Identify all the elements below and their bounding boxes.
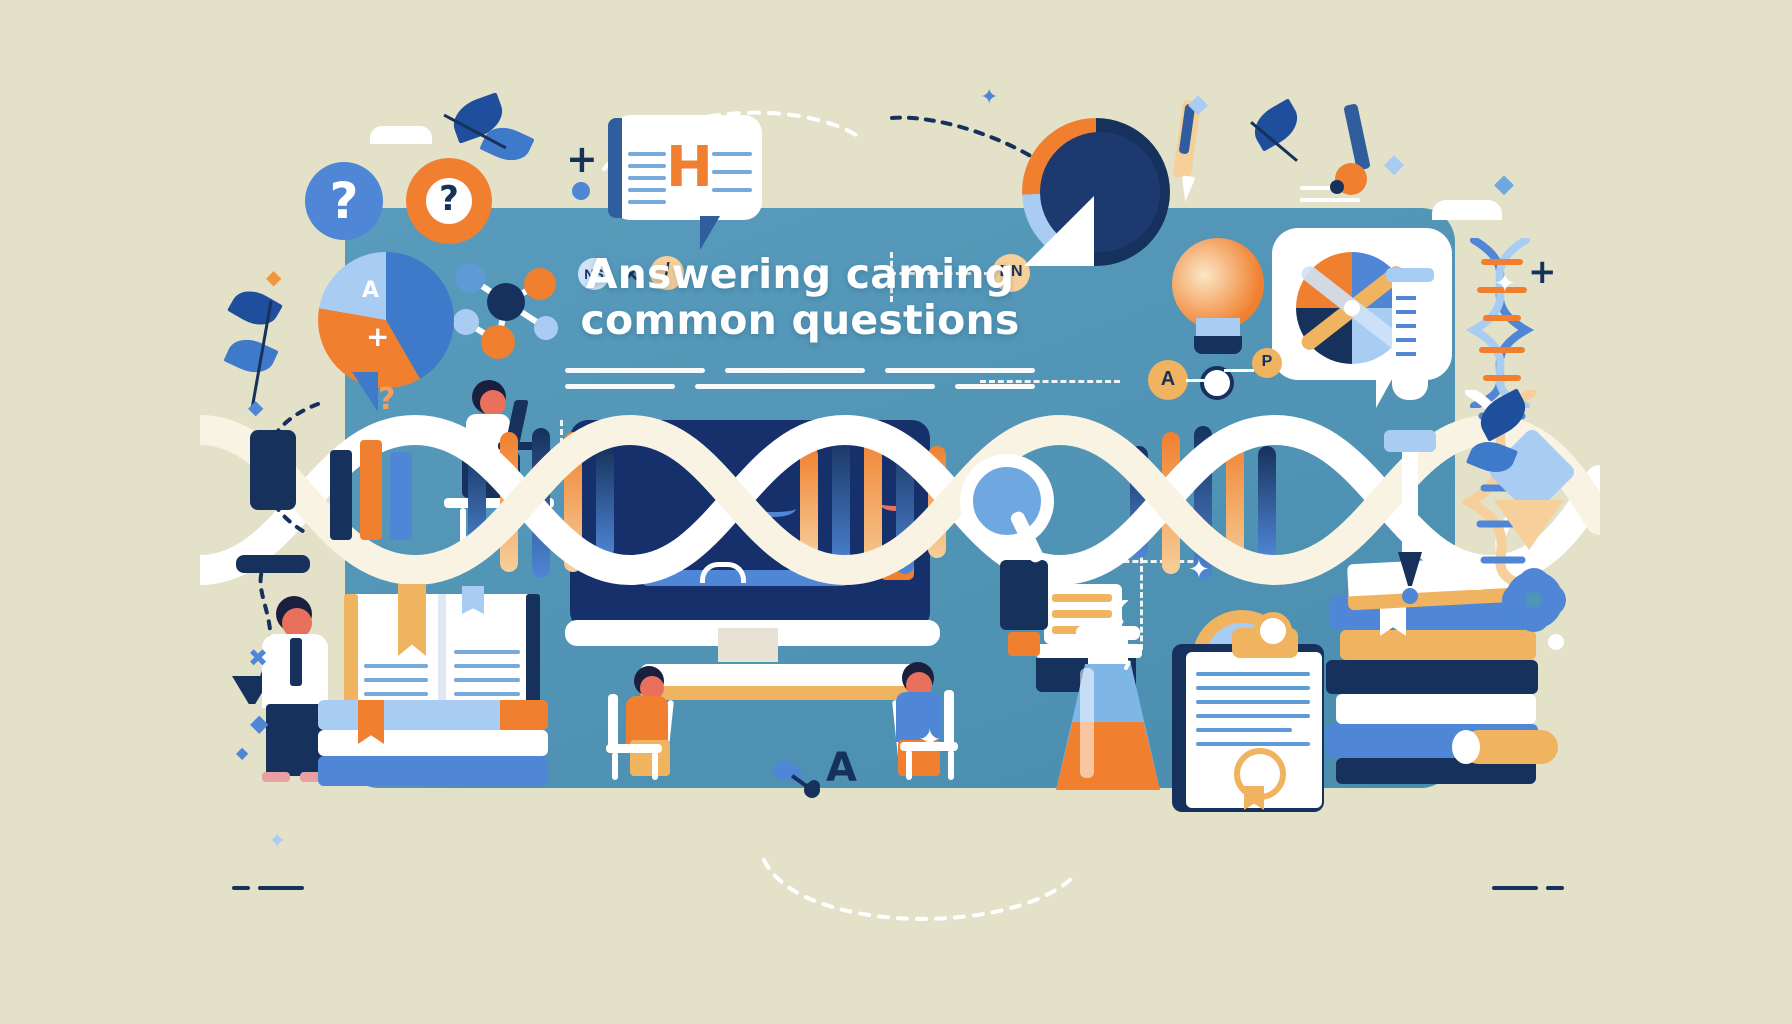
bottom-dotted-curve xyxy=(760,856,1080,946)
clipboard-line xyxy=(1196,686,1310,690)
speech-bubble-tail xyxy=(700,216,720,250)
dot-white-right xyxy=(1548,634,1564,650)
test-tube-mark-1 xyxy=(1396,296,1416,300)
cloud-right xyxy=(1432,200,1502,220)
test-tube-mark-3 xyxy=(1396,324,1416,328)
pie-chart-right-center xyxy=(1344,300,1360,316)
badge-connector-line-2 xyxy=(1224,369,1254,372)
diamond-icon-4: ◆ xyxy=(266,268,281,288)
book-text-line xyxy=(364,664,428,668)
bar-chart-column-1 xyxy=(330,450,352,540)
title-rule-1 xyxy=(565,368,705,373)
pipette-stem xyxy=(1402,452,1418,556)
diamond-icon-2: ◆ xyxy=(1384,150,1404,176)
title-line-1: Answering caming xyxy=(586,250,1015,298)
title-rule-3 xyxy=(885,368,1035,373)
bubble-text-line xyxy=(712,170,752,174)
bubble-text-line xyxy=(628,176,666,180)
plus-icon-pie: + xyxy=(366,320,389,353)
baseline-dash-left xyxy=(232,886,250,890)
flask-dashed-drip xyxy=(1096,600,1156,670)
person-seated-left-body xyxy=(626,696,668,744)
sparkle-icon-1: ✦ xyxy=(918,726,941,754)
flask-liquid xyxy=(1056,722,1160,790)
title-rule-5 xyxy=(695,384,935,389)
chair-right-leg-2 xyxy=(948,750,954,780)
magnifier-icon-2 xyxy=(960,454,1054,548)
book-text-line xyxy=(454,650,520,654)
center-table-shelf xyxy=(640,686,920,700)
lightbulb-icon xyxy=(1172,238,1264,330)
leaf-icon-5 xyxy=(223,332,278,380)
bubble-text-line xyxy=(712,152,752,156)
cloud-left xyxy=(370,126,432,144)
clipboard-clip-hole xyxy=(1254,612,1292,650)
person-standing-tie xyxy=(290,638,302,686)
pipette-icon xyxy=(1384,430,1436,452)
stacked-book-2 xyxy=(318,730,548,756)
badge-p-right-label: P xyxy=(1252,347,1282,377)
flask-highlight xyxy=(1080,668,1094,778)
gear-icon-bottom-right-center xyxy=(1526,592,1542,608)
bubble-text-line xyxy=(628,188,666,192)
book-text-line xyxy=(364,692,428,696)
title-rule-4 xyxy=(565,384,675,389)
title-underline-group xyxy=(565,368,1035,382)
device-icon-right xyxy=(1000,560,1048,630)
molecule-icon xyxy=(440,250,570,370)
leaf-icon-4 xyxy=(227,283,283,334)
page-title: Answering caming common questions xyxy=(560,252,1040,344)
right-book-2 xyxy=(1340,630,1536,660)
dot-blue-1 xyxy=(572,182,590,200)
diamond-icon-3: ◆ xyxy=(1494,170,1514,196)
bubble-text-line xyxy=(628,164,666,168)
baseline-dash-right xyxy=(1492,886,1538,890)
pipette-drop xyxy=(1402,588,1418,604)
bubble-text-line xyxy=(712,188,752,192)
dna-icon-vertical xyxy=(1460,238,1550,408)
letter-a-pie-icon: A xyxy=(362,278,379,303)
test-tube-cap xyxy=(1386,268,1434,282)
plus-icon-1: + xyxy=(566,140,598,178)
book-text-line xyxy=(454,692,520,696)
bubble-text-line xyxy=(628,152,666,156)
person-standing-shoe-1 xyxy=(262,772,290,782)
letter-h-icon: H xyxy=(666,140,713,196)
pencil-icon-right xyxy=(1343,103,1370,170)
multiply-icon: ✖ xyxy=(248,644,268,672)
chair-left-leg-2 xyxy=(652,752,658,780)
lightbulb-base xyxy=(1194,336,1242,354)
illustration-canvas: ? ? + H + A NS × xyxy=(0,0,1792,1024)
chair-right-leg-1 xyxy=(906,750,912,780)
clipboard-line xyxy=(1196,714,1310,718)
stacked-book-edge xyxy=(500,700,548,730)
speech-bubble-edge xyxy=(608,118,622,218)
clipboard-line xyxy=(1196,742,1310,746)
bubble-text-line xyxy=(628,200,666,204)
pen-tip-top xyxy=(1178,175,1195,203)
diamond-icon-1: ◆ xyxy=(1188,90,1208,116)
cylinder-cap xyxy=(1452,730,1480,764)
center-table-top xyxy=(640,664,920,686)
chair-left-leg-1 xyxy=(612,752,618,780)
badge-connector-line xyxy=(1186,379,1206,382)
diamond-icon-7: ◆ xyxy=(236,746,248,762)
right-book-4 xyxy=(1336,694,1536,724)
title-line-2: common questions xyxy=(560,298,1040,344)
test-tube-mark-4 xyxy=(1396,338,1416,342)
clipboard-line xyxy=(1196,700,1310,704)
dot-navy-1 xyxy=(1330,180,1344,194)
decor-line-top-2 xyxy=(1300,198,1360,202)
test-tube-mark-2 xyxy=(1396,310,1416,314)
diamond-icon-6: ◆ xyxy=(250,712,268,736)
book-text-line xyxy=(454,678,520,682)
clipboard-line xyxy=(1196,672,1310,676)
bar-chart-column-3 xyxy=(390,452,412,540)
baseline-dash-right-2 xyxy=(1546,886,1564,890)
dotted-arc-left xyxy=(238,400,328,540)
book-text-line xyxy=(454,664,520,668)
baseline-dash-left-2 xyxy=(258,886,304,890)
chair-right-back xyxy=(944,690,954,750)
dashed-line-panel-6 xyxy=(980,380,1120,383)
donut-pointer-white xyxy=(1024,196,1094,266)
book-text-line xyxy=(364,678,428,682)
question-mark-icon-gear: ? xyxy=(426,176,472,222)
title-rule-2 xyxy=(725,368,865,373)
title-rule-6 xyxy=(955,384,1035,389)
sparkle-icon-3: ✦ xyxy=(1494,270,1516,296)
right-book-3 xyxy=(1326,660,1538,694)
sparkle-icon-2: ✦ xyxy=(1188,556,1210,582)
test-tube-mark-5 xyxy=(1396,352,1416,356)
sparkle-icon-5: ✦ xyxy=(268,830,286,852)
question-mark-icon-blue: ? xyxy=(305,162,383,240)
clipboard-line xyxy=(1196,728,1292,732)
bar-chart-column-2 xyxy=(360,440,382,540)
molecule-icon-bottom xyxy=(772,756,842,806)
person-standing-pants xyxy=(266,704,324,776)
stacked-book-3 xyxy=(318,756,548,786)
monitor-stand xyxy=(718,628,778,662)
device-badge-orange xyxy=(1008,632,1040,656)
sparkle-icon-4: ✦ xyxy=(980,86,998,108)
